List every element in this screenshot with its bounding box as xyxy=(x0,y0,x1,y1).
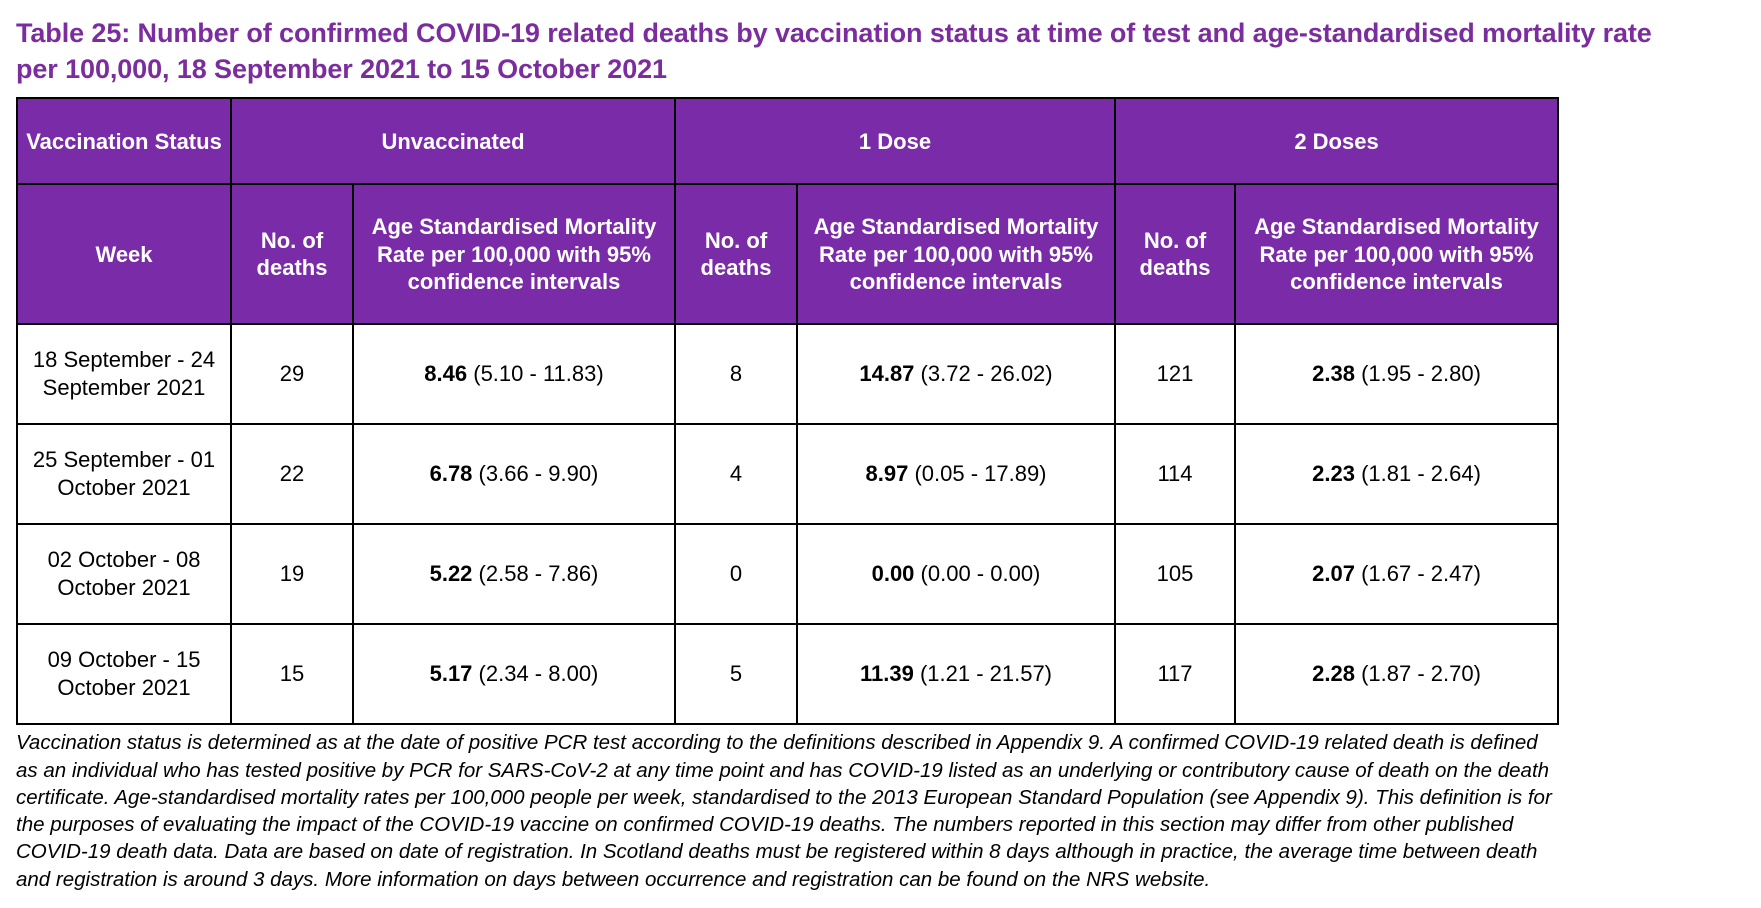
cell-rate-two-doses: 2.28 (1.87 - 2.70) xyxy=(1235,624,1558,724)
rate-confidence-interval: (0.00 - 0.00) xyxy=(921,561,1041,586)
table-row: 02 October - 08 October 2021 19 5.22 (2.… xyxy=(17,524,1558,624)
cell-rate-unvaccinated: 5.22 (2.58 - 7.86) xyxy=(353,524,675,624)
cell-rate-one-dose: 11.39 (1.21 - 21.57) xyxy=(797,624,1115,724)
cell-deaths-one-dose: 0 xyxy=(675,524,797,624)
cell-week: 25 September - 01 October 2021 xyxy=(17,424,231,524)
rate-value: 5.17 xyxy=(430,661,473,686)
cell-rate-two-doses: 2.23 (1.81 - 2.64) xyxy=(1235,424,1558,524)
rate-value: 2.38 xyxy=(1312,361,1355,386)
rate-value: 8.46 xyxy=(424,361,467,386)
covid-deaths-table: Vaccination Status Unvaccinated 1 Dose 2… xyxy=(16,97,1559,725)
header-rate-unvaccinated: Age Standardised Mortality Rate per 100,… xyxy=(353,184,675,324)
rate-value: 5.22 xyxy=(430,561,473,586)
cell-deaths-two-doses: 117 xyxy=(1115,624,1235,724)
cell-week: 02 October - 08 October 2021 xyxy=(17,524,231,624)
cell-deaths-unvaccinated: 19 xyxy=(231,524,353,624)
rate-confidence-interval: (0.05 - 17.89) xyxy=(914,461,1046,486)
rate-value: 6.78 xyxy=(430,461,473,486)
header-rate-one-dose: Age Standardised Mortality Rate per 100,… xyxy=(797,184,1115,324)
header-group-two-doses: 2 Doses xyxy=(1115,98,1558,184)
rate-confidence-interval: (3.72 - 26.02) xyxy=(921,361,1053,386)
rate-confidence-interval: (1.95 - 2.80) xyxy=(1361,361,1481,386)
cell-rate-unvaccinated: 5.17 (2.34 - 8.00) xyxy=(353,624,675,724)
cell-rate-one-dose: 8.97 (0.05 - 17.89) xyxy=(797,424,1115,524)
cell-deaths-one-dose: 8 xyxy=(675,324,797,424)
rate-confidence-interval: (3.66 - 9.90) xyxy=(479,461,599,486)
cell-rate-one-dose: 14.87 (3.72 - 26.02) xyxy=(797,324,1115,424)
cell-rate-two-doses: 2.38 (1.95 - 2.80) xyxy=(1235,324,1558,424)
header-rate-two-doses: Age Standardised Mortality Rate per 100,… xyxy=(1235,184,1558,324)
rate-confidence-interval: (1.67 - 2.47) xyxy=(1361,561,1481,586)
header-deaths-two-doses: No. of deaths xyxy=(1115,184,1235,324)
cell-deaths-unvaccinated: 15 xyxy=(231,624,353,724)
header-deaths-unvaccinated: No. of deaths xyxy=(231,184,353,324)
rate-value: 0.00 xyxy=(872,561,915,586)
rate-value: 8.97 xyxy=(865,461,908,486)
rate-value: 2.07 xyxy=(1312,561,1355,586)
rate-value: 11.39 xyxy=(860,661,914,686)
group-header-row: Vaccination Status Unvaccinated 1 Dose 2… xyxy=(17,98,1558,184)
page-title: Table 25: Number of confirmed COVID-19 r… xyxy=(0,0,1761,97)
rate-confidence-interval: (1.81 - 2.64) xyxy=(1361,461,1481,486)
rate-confidence-interval: (1.21 - 21.57) xyxy=(920,661,1052,686)
rate-value: 2.23 xyxy=(1312,461,1355,486)
table-row: 09 October - 15 October 2021 15 5.17 (2.… xyxy=(17,624,1558,724)
sub-header-row: Week No. of deaths Age Standardised Mort… xyxy=(17,184,1558,324)
table-page: Table 25: Number of confirmed COVID-19 r… xyxy=(0,0,1761,908)
rate-confidence-interval: (2.58 - 7.86) xyxy=(479,561,599,586)
header-vaccination-status: Vaccination Status xyxy=(17,98,231,184)
table-row: 25 September - 01 October 2021 22 6.78 (… xyxy=(17,424,1558,524)
rate-confidence-interval: (5.10 - 11.83) xyxy=(473,361,603,386)
rate-confidence-interval: (1.87 - 2.70) xyxy=(1361,661,1481,686)
table-footnote: Vaccination status is determined as at t… xyxy=(16,729,1557,893)
table-header: Vaccination Status Unvaccinated 1 Dose 2… xyxy=(17,98,1558,324)
header-group-one-dose: 1 Dose xyxy=(675,98,1115,184)
cell-rate-two-doses: 2.07 (1.67 - 2.47) xyxy=(1235,524,1558,624)
cell-deaths-one-dose: 4 xyxy=(675,424,797,524)
table-row: 18 September - 24 September 2021 29 8.46… xyxy=(17,324,1558,424)
rate-value: 14.87 xyxy=(859,361,914,386)
cell-rate-unvaccinated: 8.46 (5.10 - 11.83) xyxy=(353,324,675,424)
cell-deaths-unvaccinated: 22 xyxy=(231,424,353,524)
cell-deaths-two-doses: 105 xyxy=(1115,524,1235,624)
cell-deaths-unvaccinated: 29 xyxy=(231,324,353,424)
cell-week: 09 October - 15 October 2021 xyxy=(17,624,231,724)
cell-deaths-two-doses: 114 xyxy=(1115,424,1235,524)
cell-week: 18 September - 24 September 2021 xyxy=(17,324,231,424)
header-deaths-one-dose: No. of deaths xyxy=(675,184,797,324)
table-body: 18 September - 24 September 2021 29 8.46… xyxy=(17,324,1558,724)
header-group-unvaccinated: Unvaccinated xyxy=(231,98,675,184)
cell-rate-one-dose: 0.00 (0.00 - 0.00) xyxy=(797,524,1115,624)
rate-value: 2.28 xyxy=(1312,661,1355,686)
cell-rate-unvaccinated: 6.78 (3.66 - 9.90) xyxy=(353,424,675,524)
cell-deaths-two-doses: 121 xyxy=(1115,324,1235,424)
header-week: Week xyxy=(17,184,231,324)
rate-confidence-interval: (2.34 - 8.00) xyxy=(479,661,599,686)
cell-deaths-one-dose: 5 xyxy=(675,624,797,724)
